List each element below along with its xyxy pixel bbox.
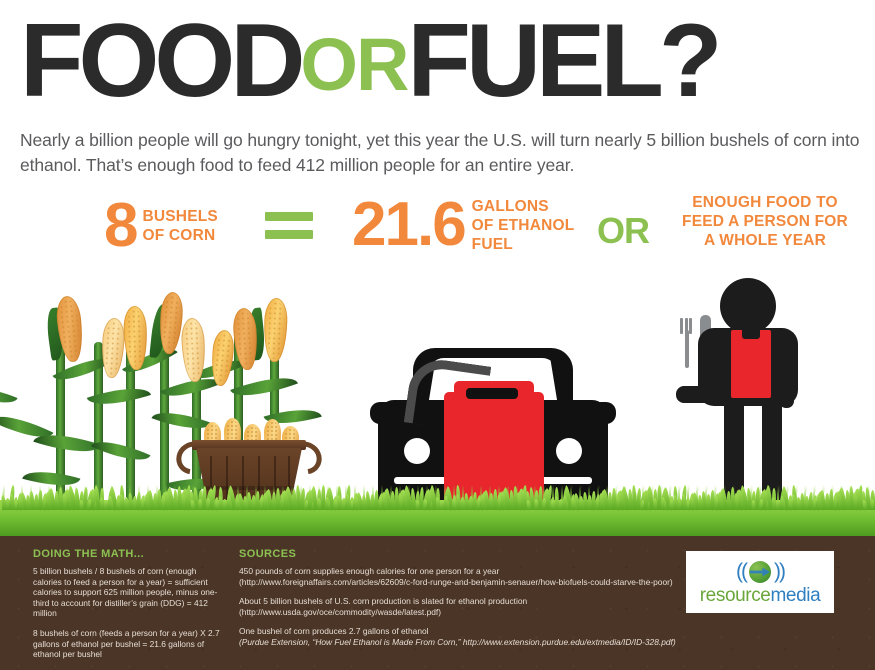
- source-citation[interactable]: (http://www.usda.gov/oce/commodity/wasde…: [239, 607, 441, 617]
- equation-gallons: 21.6 GALLONS OF ETHANOL FUEL: [352, 192, 574, 258]
- source-item: 450 pounds of corn supplies enough calor…: [239, 566, 679, 587]
- source-citation[interactable]: (http://www.foreignaffairs.com/articles/…: [239, 577, 673, 587]
- food-label-line1: ENOUGH FOOD TO: [692, 194, 837, 211]
- person-head: [720, 278, 776, 334]
- subtitle-text: Nearly a billion people will go hungry t…: [20, 128, 865, 178]
- source-item: About 5 billion bushels of U.S. corn pro…: [239, 596, 679, 617]
- gallons-label-line2: OF ETHANOL: [472, 217, 575, 234]
- fork-icon: [680, 318, 692, 366]
- gallons-label: GALLONS OF ETHANOL FUEL: [472, 197, 575, 254]
- resource-media-logo[interactable]: (( )) resourcemedia: [686, 551, 834, 613]
- gallons-value: 21.6: [352, 192, 465, 258]
- equation-food: ENOUGH FOOD TO FEED A PERSON FOR A WHOLE…: [665, 193, 865, 250]
- food-label: ENOUGH FOOD TO FEED A PERSON FOR A WHOLE…: [665, 193, 865, 250]
- headline-or: OR: [300, 23, 407, 106]
- headline-food: FOOD: [20, 6, 300, 116]
- doing-the-math-column: DOING THE MATH... 5 billion bushels / 8 …: [33, 548, 223, 669]
- gallons-label-line1: GALLONS: [472, 198, 549, 215]
- source-citation[interactable]: (Purdue Extension, “How Fuel Ethanol is …: [239, 637, 676, 647]
- equation-bushels: 8 BUSHELS OF CORN: [104, 195, 218, 257]
- illustration-band: [0, 278, 875, 536]
- logo-paren-right: )): [774, 561, 784, 582]
- page-title: FOODORFUEL?: [20, 6, 860, 116]
- logo-word-resource: resource: [700, 585, 771, 606]
- doing-the-math-title: DOING THE MATH...: [33, 548, 223, 560]
- gallons-label-line3: FUEL: [472, 236, 513, 253]
- car-headlight-right: [556, 438, 582, 464]
- or-word: OR: [597, 213, 649, 249]
- logo-word-media: media: [770, 585, 820, 606]
- car-mirror-left: [370, 402, 396, 424]
- globe-icon: [749, 561, 771, 583]
- source-claim: One bushel of corn produces 2.7 gallons …: [239, 626, 429, 636]
- corn-field-illustration: [20, 278, 330, 510]
- sources-column: SOURCES 450 pounds of corn supplies enou…: [239, 548, 679, 657]
- gas-can-handle: [466, 388, 518, 399]
- logo-globe-row: (( )): [736, 559, 784, 585]
- car-headlight-left: [404, 438, 430, 464]
- grass-strip: [0, 500, 875, 536]
- doing-the-math-paragraph-1: 5 billion bushels / 8 bushels of corn (e…: [33, 566, 223, 619]
- source-claim: 450 pounds of corn supplies enough calor…: [239, 566, 499, 576]
- infographic-canvas: FOODORFUEL? Nearly a billion people will…: [0, 0, 875, 670]
- equation-or: OR: [597, 213, 649, 249]
- logo-paren-left: ((: [736, 561, 746, 582]
- food-label-line2: FEED A PERSON FOR: [682, 213, 848, 230]
- bushels-value: 8: [104, 195, 136, 257]
- person-arm-right: [779, 346, 794, 408]
- headline-fuel: FUEL?: [407, 6, 717, 116]
- source-item: One bushel of corn produces 2.7 gallons …: [239, 626, 679, 647]
- food-label-line3: A WHOLE YEAR: [704, 232, 826, 249]
- equation-row: 8 BUSHELS OF CORN 21.6 GALLONS OF ETHANO…: [0, 192, 875, 282]
- bushels-label: BUSHELS OF CORN: [142, 207, 217, 245]
- source-claim: About 5 billion bushels of U.S. corn pro…: [239, 596, 527, 606]
- equals-icon: [265, 212, 313, 239]
- logo-wordmark: resourcemedia: [700, 585, 820, 606]
- sources-title: SOURCES: [239, 548, 679, 560]
- person-illustration: [662, 278, 822, 510]
- car-mirror-right: [590, 402, 616, 424]
- bushels-label-line1: BUSHELS: [142, 208, 217, 225]
- bushels-label-line2: OF CORN: [142, 227, 215, 244]
- person-apron: [731, 330, 771, 398]
- equals-sign: [265, 212, 313, 239]
- doing-the-math-paragraph-2: 8 bushels of corn (feeds a person for a …: [33, 628, 223, 660]
